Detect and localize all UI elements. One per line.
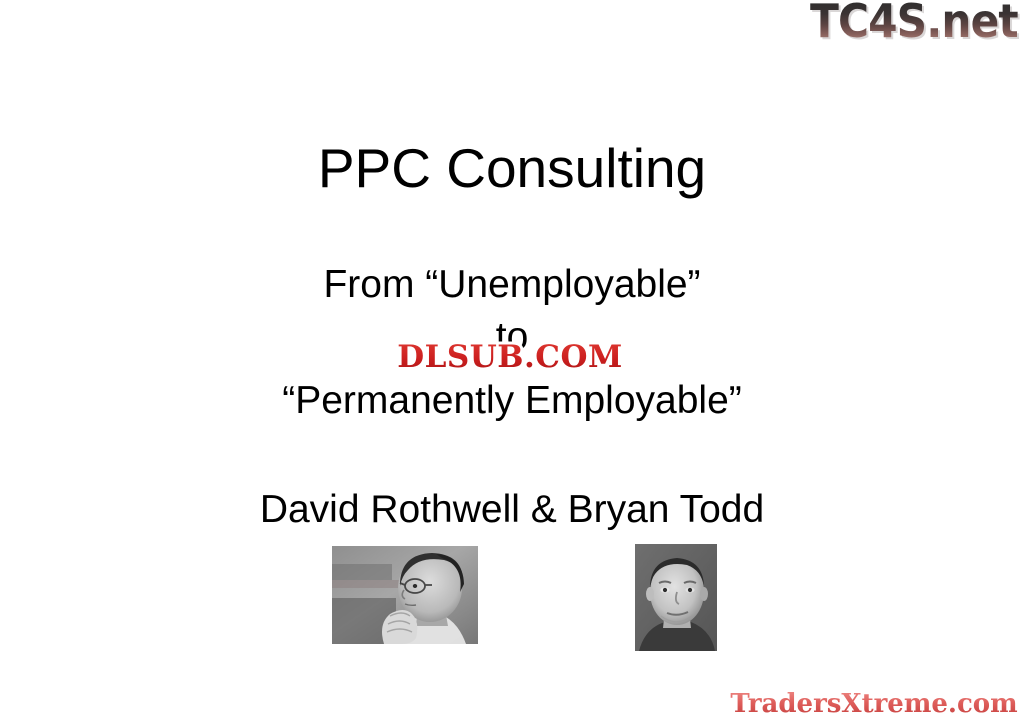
subtitle-line-from: From “Unemployable” — [0, 264, 1024, 307]
subtitle-line-permanently-employable: “Permanently Employable” — [0, 380, 1024, 423]
dlsub-com-watermark: DLSUB.COM DLSUB.COM — [366, 338, 654, 376]
authors-line: David Rothwell & Bryan Todd — [0, 489, 1024, 532]
presentation-slide: TC4S.net TC4S.net PPC Consulting From “U… — [0, 0, 1024, 724]
tc4s-net-logo: TC4S.net — [810, 0, 1018, 44]
avatar-david-rothwell — [332, 546, 478, 644]
dlsub-fill-text: DLSUB.COM — [397, 339, 623, 375]
tradersxtreme-watermark: TradersXtreme.com TradersXtreme.com — [728, 686, 1020, 720]
page-title: PPC Consulting — [0, 139, 1024, 197]
avatar-bryan-todd — [635, 544, 717, 651]
tradersxtreme-fill-text: TradersXtreme.com — [730, 689, 1017, 719]
